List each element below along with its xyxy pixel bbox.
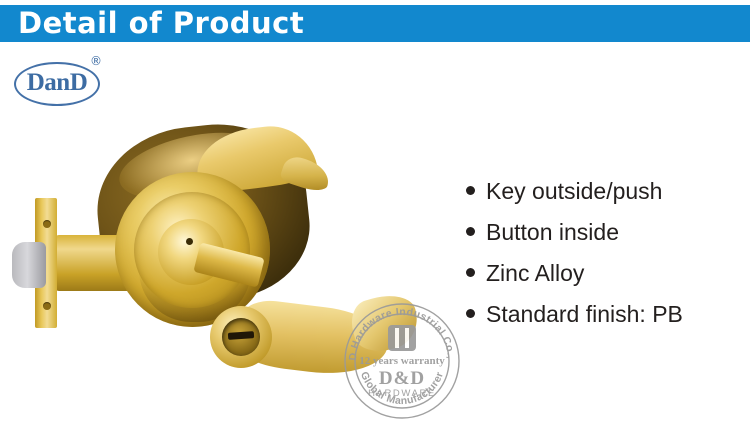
- feature-label: Button inside: [486, 219, 619, 245]
- feature-label: Zinc Alloy: [486, 260, 584, 286]
- feature-item: Key outside/push: [466, 170, 750, 211]
- feature-item: Zinc Alloy: [466, 252, 750, 293]
- feature-item: Button inside: [466, 211, 750, 252]
- feature-item: Standard finish: PB: [466, 293, 750, 334]
- brand-logo: DanD ®: [10, 52, 125, 108]
- bullet-icon: [466, 227, 475, 236]
- watermark-subbrand: HARDWARE: [368, 388, 436, 399]
- watermark-warranty: 12 years warranty: [359, 355, 445, 367]
- latch-bolt: [12, 242, 46, 288]
- feature-label: Key outside/push: [486, 178, 662, 204]
- faceplate-screw-hole-top: [43, 220, 51, 228]
- watermark-seal: D&D Hardware Industrial Co.,Ltd Global M…: [343, 302, 461, 420]
- page-title: Detail of Product: [18, 8, 304, 39]
- bullet-icon: [466, 268, 475, 277]
- door-panel-icon: [388, 325, 416, 351]
- rose-set-screw-icon: [186, 238, 193, 245]
- bullet-icon: [466, 186, 475, 195]
- faceplate-screw-hole-bottom: [43, 302, 51, 310]
- logo-wordmark: DanD: [14, 62, 100, 106]
- watermark-brand: D&D: [379, 368, 425, 389]
- page-header-banner: Detail of Product: [0, 5, 750, 42]
- registered-trademark-icon: ®: [90, 54, 102, 68]
- feature-list: Key outside/push Button inside Zinc Allo…: [466, 170, 750, 334]
- bullet-icon: [466, 309, 475, 318]
- feature-label: Standard finish: PB: [486, 301, 683, 327]
